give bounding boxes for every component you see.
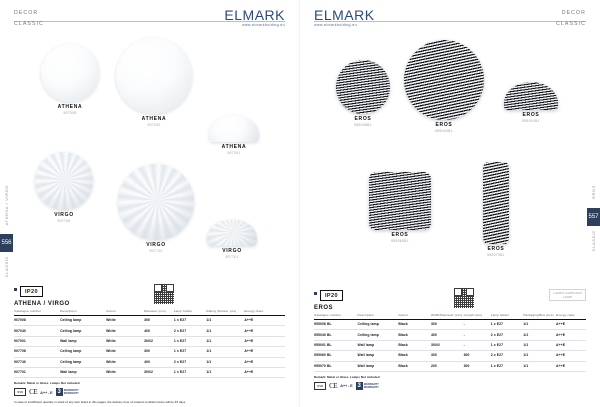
right-product-gallery: EROS 955008BL EROS 955040BL EROS 955001B… [300, 32, 600, 280]
certification-badges: IP20 CE A++ - E 3 WARRANTY WARRANTY [314, 382, 586, 390]
cell-length: - [464, 330, 491, 340]
product-image-eros-wall-square [369, 172, 431, 230]
product-code: 907040 [108, 123, 200, 128]
cell-code: 907701 [14, 367, 60, 377]
table-row[interactable]: 955001 BL Wall lamp Black 300/2 - 1 x E2… [314, 340, 586, 350]
cell-rating: 1/1 [206, 357, 244, 367]
right-spec-block: IP20 LAMPS SUPPLIED LAMP EROS Catalogue … [314, 290, 586, 390]
cell-holder: 2 x E27 [174, 357, 207, 367]
cell-diameter: 400 [144, 326, 174, 336]
cell-code: 907001 [14, 336, 60, 346]
cell-code: 955060 BL [314, 351, 358, 361]
disclaimer-text: In case of insufficient quantity in stoc… [14, 400, 285, 404]
cell-rating: 1/1 [206, 336, 244, 346]
cell-colour: White [106, 347, 144, 357]
cell-description: Wall lamp [358, 340, 399, 350]
warranty-line-2: WARRANTY [64, 392, 79, 395]
cell-colour: Black [398, 361, 431, 371]
left-page-header: DECOR CLASSIC ELMARK www.elmarkholding.e… [0, 0, 299, 34]
warranty-line-2: WARRANTY [364, 386, 379, 389]
product-image-eros-wall-half [504, 82, 558, 110]
table-row[interactable]: 955070 BL Wall lamp Black 200 300 1 x E2… [314, 361, 586, 371]
cell-colour: White [106, 357, 144, 367]
table-row[interactable]: 955040 BL Ceiling lamp Black 400 - 2 x E… [314, 330, 586, 340]
product-image-eros-ceiling-400 [404, 40, 484, 120]
warranty-badge: 3 WARRANTY WARRANTY [356, 382, 379, 390]
bullet-marker [314, 292, 317, 295]
table-row[interactable]: 907708 Ceiling lamp White 300 1 x E27 1/… [14, 347, 285, 357]
product-name: VIRGO [26, 212, 102, 219]
product-image-virgo-wall [207, 220, 257, 246]
product-name: EROS [358, 232, 442, 239]
cell-length: - [464, 320, 491, 330]
ip-box-icon: IP20 [14, 388, 26, 396]
table-remark: Remark: Metal or Glass. Lamps Not includ… [14, 381, 285, 385]
cell-description: Ceiling lamp [60, 357, 106, 367]
table-row[interactable]: 907740 Ceiling lamp White 400 2 x E27 1/… [14, 357, 285, 367]
table-row[interactable]: 907001 Wall lamp White 300/2 1 x E27 1/1… [14, 336, 285, 346]
product-name: ATHENA [108, 116, 200, 123]
header-subcategory: CLASSIC [556, 20, 586, 28]
ip-box-icon: IP20 [314, 382, 326, 390]
energy-label-icon: A++ - E [40, 390, 52, 395]
product-code: 907001 [202, 151, 266, 156]
product-figure[interactable]: EROS 955001BL [496, 82, 566, 124]
header-category-block: DECOR CLASSIC [556, 9, 586, 28]
ce-mark-icon: CE [29, 388, 37, 396]
product-table: Catalogue number Description Colour Diam… [14, 309, 285, 378]
cell-energy-class: A++E [244, 326, 285, 336]
product-image-athena-ceiling-300 [41, 44, 99, 102]
warranty-text: WARRANTY WARRANTY [364, 383, 379, 389]
product-figure[interactable]: EROS 955040BL [398, 40, 490, 134]
left-spec-block: IP20 ATHENA / VIRGO Catalogue number Des… [14, 286, 285, 404]
product-name: ATHENA [202, 144, 266, 151]
cell-code: 907708 [14, 347, 60, 357]
warranty-text: WARRANTY WARRANTY [64, 389, 79, 395]
cell-length: 300 [464, 351, 491, 361]
catalogue-spread: DECOR CLASSIC ELMARK www.elmarkholding.e… [0, 0, 600, 407]
product-table: Catalogue number Description Colour Widt… [314, 313, 586, 372]
ce-mark-icon: CE [329, 382, 337, 390]
cell-colour: Black [398, 320, 431, 330]
cell-energy-class: A++E [556, 361, 586, 371]
product-image-athena-ceiling-400 [116, 38, 192, 114]
product-code: 907701 [200, 255, 264, 260]
warranty-badge: 3 WARRANTY WARRANTY [56, 388, 79, 396]
table-row[interactable]: 907040 Ceiling lamp White 400 2 x E27 1/… [14, 326, 285, 336]
cell-code: 955040 BL [314, 330, 358, 340]
qr-code-icon[interactable] [454, 288, 474, 308]
cell-energy-class: A++E [244, 367, 285, 377]
cell-length: 300 [464, 361, 491, 371]
product-image-eros-wall-cylinder [483, 162, 509, 244]
qr-code-icon[interactable] [154, 284, 174, 304]
table-row[interactable]: 955060 BL Wall lamp Black 300 300 2 x E2… [314, 351, 586, 361]
product-figure[interactable]: VIRGO 907701 [200, 220, 264, 260]
cell-packaging: 1/1 [523, 361, 556, 371]
lamp-supply-line-2: LAMP [553, 295, 582, 299]
product-figure[interactable]: ATHENA 907040 [108, 38, 200, 128]
product-figure[interactable]: VIRGO 907708 [26, 152, 102, 224]
product-figure[interactable]: ATHENA 907008 [32, 44, 108, 116]
cell-holder: 1 x E27 [491, 340, 524, 350]
product-name: EROS [496, 112, 566, 119]
cell-width: 300 [431, 320, 464, 330]
cell-rating: 1/1 [206, 347, 244, 357]
cell-colour: White [106, 326, 144, 336]
cell-colour: Black [398, 330, 431, 340]
cell-energy-class: A++E [244, 357, 285, 367]
table-row[interactable]: 955008 BL Ceiling lamp Black 300 - 1 x E… [314, 320, 586, 330]
cell-rating: 1/1 [206, 326, 244, 336]
cell-code: 955001 BL [314, 340, 358, 350]
product-figure[interactable]: EROS 955070BL [458, 162, 534, 258]
product-code: 907740 [110, 249, 202, 254]
right-page-header: DECOR CLASSIC ELMARK www.elmarkholding.e… [300, 0, 600, 34]
cell-width: 200 [431, 361, 464, 371]
product-code: 907008 [32, 111, 108, 116]
cell-description: Wall lamp [358, 351, 399, 361]
cell-diameter: 300/2 [144, 336, 174, 346]
product-code: 955001BL [496, 119, 566, 124]
cell-energy-class: A++E [556, 351, 586, 361]
product-code: 955040BL [398, 129, 490, 134]
brand-name: ELMARK [314, 8, 375, 22]
cell-holder: 1 x E27 [491, 361, 524, 371]
cell-code: 907040 [14, 326, 60, 336]
product-name: VIRGO [110, 242, 202, 249]
brand-name: ELMARK [224, 8, 285, 22]
cell-code: 907740 [14, 357, 60, 367]
cell-width: 400 [431, 330, 464, 340]
product-image-eros-ceiling-300 [336, 60, 390, 114]
cell-colour: White [106, 316, 144, 326]
product-code: 955008BL [328, 123, 398, 128]
product-name: EROS [328, 116, 398, 123]
family-title: ATHENA / VIRGO [14, 301, 285, 307]
product-name: EROS [398, 122, 490, 129]
table-row[interactable]: 907008 Ceiling lamp White 300 1 x E27 1/… [14, 316, 285, 326]
cell-energy-class: A++E [244, 347, 285, 357]
header-category: DECOR [556, 9, 586, 17]
product-name: VIRGO [200, 248, 264, 255]
brand-url: www.elmarkholding.eu [224, 23, 285, 27]
cell-holder: 2 x E27 [491, 351, 524, 361]
cell-packaging: 1/1 [523, 340, 556, 350]
cell-description: Ceiling lamp [60, 326, 106, 336]
left-product-gallery: ATHENA 907008 ATHENA 907040 ATHENA 90700… [0, 32, 300, 280]
cell-colour: Black [398, 340, 431, 350]
product-code: 955070BL [458, 253, 534, 258]
brand-logo: ELMARK www.elmarkholding.eu [224, 8, 285, 27]
cell-width: 300/2 [431, 340, 464, 350]
family-title: EROS [314, 305, 586, 311]
cell-code: 955008 BL [314, 320, 358, 330]
ip-rating-row: IP20 [14, 286, 285, 299]
cell-length: - [464, 340, 491, 350]
cell-holder: 1 x E27 [174, 336, 207, 346]
cell-description: Ceiling lamp [358, 320, 399, 330]
cell-packaging: 1/1 [523, 330, 556, 340]
ip-rating-badge: IP20 [20, 286, 43, 297]
ip-rating-row: IP20 LAMPS SUPPLIED LAMP [314, 290, 586, 303]
warranty-years: 3 [356, 382, 363, 390]
header-category: DECOR [14, 9, 44, 17]
product-figure[interactable]: EROS 955060BL [358, 172, 442, 244]
cell-holder: 2 x E27 [174, 326, 207, 336]
cell-energy-class: A++E [556, 330, 586, 340]
table-row[interactable]: 907701 Wall lamp White 300/2 1 x E27 1/1… [14, 367, 285, 377]
energy-label-icon: A++ - E [340, 383, 352, 388]
cell-rating: 1/1 [206, 367, 244, 377]
product-figure[interactable]: VIRGO 907740 [110, 164, 202, 254]
lamp-supply-note: LAMPS SUPPLIED LAMP [549, 289, 586, 301]
cell-energy-class: A++E [556, 320, 586, 330]
header-subcategory: CLASSIC [14, 20, 44, 28]
brand-logo: ELMARK www.elmarkholding.eu [314, 8, 375, 27]
cell-colour: White [106, 336, 144, 346]
cell-diameter: 300 [144, 347, 174, 357]
cell-holder: 1 x E27 [174, 316, 207, 326]
bullet-marker [14, 288, 17, 291]
cell-description: Wall lamp [358, 361, 399, 371]
cell-colour: White [106, 367, 144, 377]
cell-holder: 2 x E27 [491, 330, 524, 340]
cell-description: Ceiling lamp [60, 316, 106, 326]
cell-description: Wall lamp [60, 367, 106, 377]
product-image-athena-wall [209, 116, 259, 142]
cell-description: Wall lamp [60, 336, 106, 346]
table-body: 955008 BL Ceiling lamp Black 300 - 1 x E… [314, 320, 586, 372]
left-page: DECOR CLASSIC ELMARK www.elmarkholding.e… [0, 0, 300, 407]
cell-diameter: 300/2 [144, 367, 174, 377]
product-name: ATHENA [32, 104, 108, 111]
brand-url: www.elmarkholding.eu [314, 23, 375, 27]
cell-energy-class: A++E [244, 336, 285, 346]
cell-description: Ceiling lamp [60, 347, 106, 357]
cell-description: Ceiling lamp [358, 330, 399, 340]
cell-packaging: 1/1 [523, 320, 556, 330]
cell-diameter: 400 [144, 357, 174, 367]
product-name: EROS [458, 246, 534, 253]
warranty-years: 3 [56, 388, 63, 396]
header-category-block: DECOR CLASSIC [14, 9, 44, 28]
table-body: 907008 Ceiling lamp White 300 1 x E27 1/… [14, 316, 285, 378]
cell-holder: 1 x E27 [174, 367, 207, 377]
product-code: 907708 [26, 219, 102, 224]
right-page: DECOR CLASSIC ELMARK www.elmarkholding.e… [300, 0, 600, 407]
cell-energy-class: A++E [244, 316, 285, 326]
certification-badges: IP20 CE A++ - E 3 WARRANTY WARRANTY [14, 388, 285, 396]
cell-energy-class: A++E [556, 340, 586, 350]
product-code: 955060BL [358, 239, 442, 244]
cell-colour: Black [398, 351, 431, 361]
ip-rating-badge: IP20 [320, 290, 343, 301]
product-image-virgo-ceiling-400 [118, 164, 194, 240]
table-remark: Remark: Metal or Glass. Lamps Not includ… [314, 375, 586, 379]
cell-rating: 1/1 [206, 316, 244, 326]
cell-holder: 1 x E27 [491, 320, 524, 330]
cell-holder: 1 x E27 [174, 347, 207, 357]
product-figure[interactable]: ATHENA 907001 [202, 116, 266, 156]
product-image-virgo-ceiling-300 [35, 152, 93, 210]
cell-code: 907008 [14, 316, 60, 326]
cell-diameter: 300 [144, 316, 174, 326]
cell-width: 300 [431, 351, 464, 361]
cell-packaging: 1/1 [523, 351, 556, 361]
product-figure[interactable]: EROS 955008BL [328, 60, 398, 128]
cell-code: 955070 BL [314, 361, 358, 371]
